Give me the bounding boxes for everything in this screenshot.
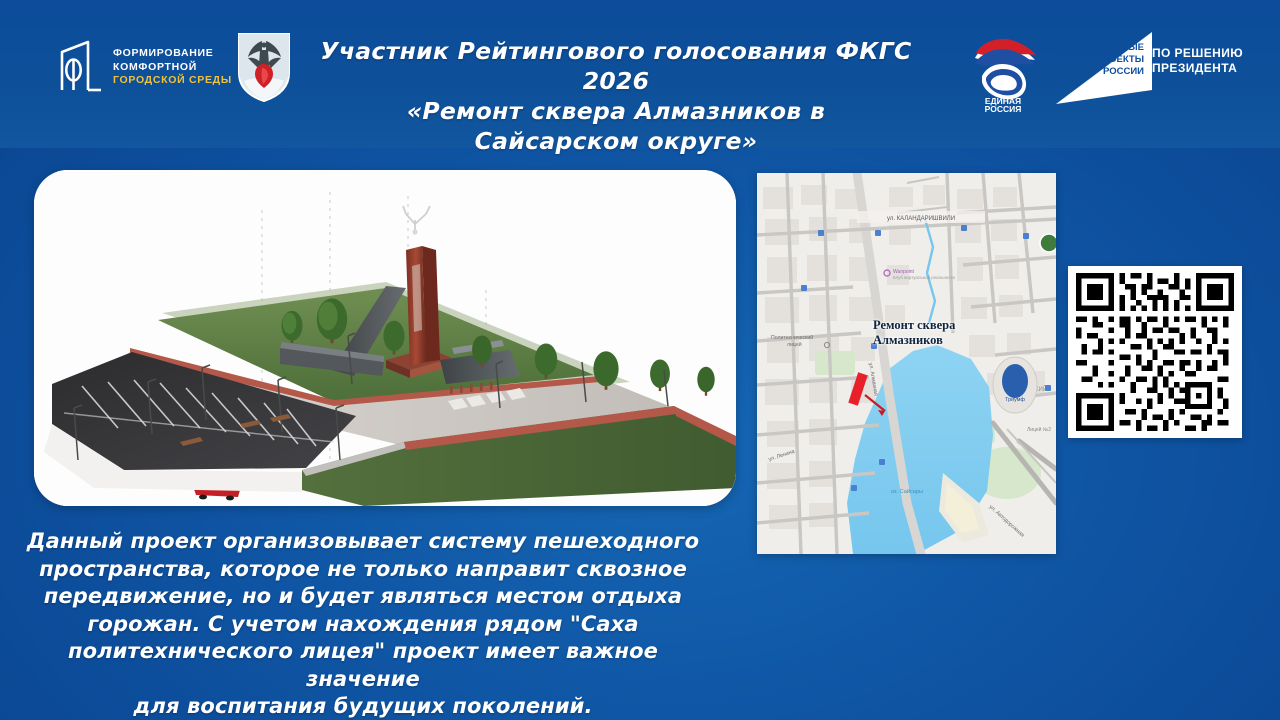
np-line-2: ПРОЕКТЫ (1096, 54, 1144, 65)
fkgs-line-1: ФОРМИРОВАНИЕ (113, 48, 232, 59)
president-line-2: ПРЕЗИДЕНТА (1152, 61, 1243, 76)
description-line-4: горожан. С учетом нахождения рядом "Саха (18, 611, 708, 639)
coat-of-arms-sakha-icon (236, 31, 292, 103)
fkgs-logo: ФОРМИРОВАНИЕ КОМФОРТНОЙ ГОРОДСКОЙ СРЕДЫ (58, 36, 228, 98)
np-line-1: НАЦИОНАЛЬНЫЕ (1059, 42, 1144, 53)
location-map[interactable]: ул. КАЛАНДАРИШВИЛИ ул. Алмазная ул. Авто… (757, 173, 1056, 554)
map-project-label-line-2: Алмазников (873, 333, 955, 348)
description-line-1: Данный проект организовывает систему пеш… (18, 528, 708, 556)
project-description: Данный проект организовывает систему пеш… (18, 528, 708, 720)
president-decision-text: ПО РЕШЕНИЮ ПРЕЗИДЕНТА (1152, 46, 1243, 76)
title-line-1: Участник Рейтингового голосования ФКГС 2… (286, 36, 946, 96)
description-line-2: пространства, которое не только направит… (18, 556, 708, 584)
map-street-kalandarishvili: ул. КАЛАНДАРИШВИЛИ (887, 216, 955, 222)
map-poi-lyceum-2: лицей (787, 341, 802, 348)
project-render-image (34, 170, 736, 506)
project-render-card (34, 170, 736, 506)
united-russia-logo: ЕДИНАЯ РОССИЯ (962, 32, 1044, 114)
map-poi-lyceum2: Лицей №2 (1027, 426, 1051, 433)
np-line-3: РОССИИ (1103, 66, 1144, 77)
map-poi-lyceum: Политехнический (771, 334, 813, 341)
map-poi-triumph: Триумф (1005, 397, 1025, 403)
map-water-label: оз. Сайсары (891, 488, 923, 495)
qr-code[interactable] (1076, 273, 1234, 431)
title-line-3: Сайсарском округе» (286, 126, 946, 156)
fkgs-line-3: ГОРОДСКОЙ СРЕДЫ (113, 75, 232, 86)
poster-root: ФОРМИРОВАНИЕ КОМФОРТНОЙ ГОРОДСКОЙ СРЕДЫ (0, 0, 1280, 720)
map-project-label: Ремонт сквера Алмазников (873, 318, 955, 348)
map-poi-vr-club-sub: Клуб виртуальной реальности (893, 275, 956, 280)
fkgs-line-2: КОМФОРТНОЙ (113, 62, 232, 73)
description-line-5: политехнического лицея" проект имеет важ… (18, 638, 708, 693)
national-projects-flag-icon: НАЦИОНАЛЬНЫЕ ПРОЕКТЫ РОССИИ (1048, 30, 1158, 108)
map-project-label-line-1: Ремонт сквера (873, 318, 955, 333)
door-building-icon (58, 40, 104, 94)
description-line-6: для воспитания будущих поколений. (18, 693, 708, 720)
fkgs-logo-text: ФОРМИРОВАНИЕ КОМФОРТНОЙ ГОРОДСКОЙ СРЕДЫ (113, 48, 232, 86)
description-line-3: передвижение, но и будет являться местом… (18, 583, 708, 611)
er-line-2: РОССИЯ (985, 104, 1022, 114)
title-line-2: «Ремонт сквера Алмазников в (286, 96, 946, 126)
header-band: ФОРМИРОВАНИЕ КОМФОРТНОЙ ГОРОДСКОЙ СРЕДЫ (0, 0, 1280, 148)
qr-code-card[interactable] (1068, 266, 1242, 438)
president-line-1: ПО РЕШЕНИЮ (1152, 46, 1243, 61)
page-title: Участник Рейтингового голосования ФКГС 2… (286, 36, 946, 156)
